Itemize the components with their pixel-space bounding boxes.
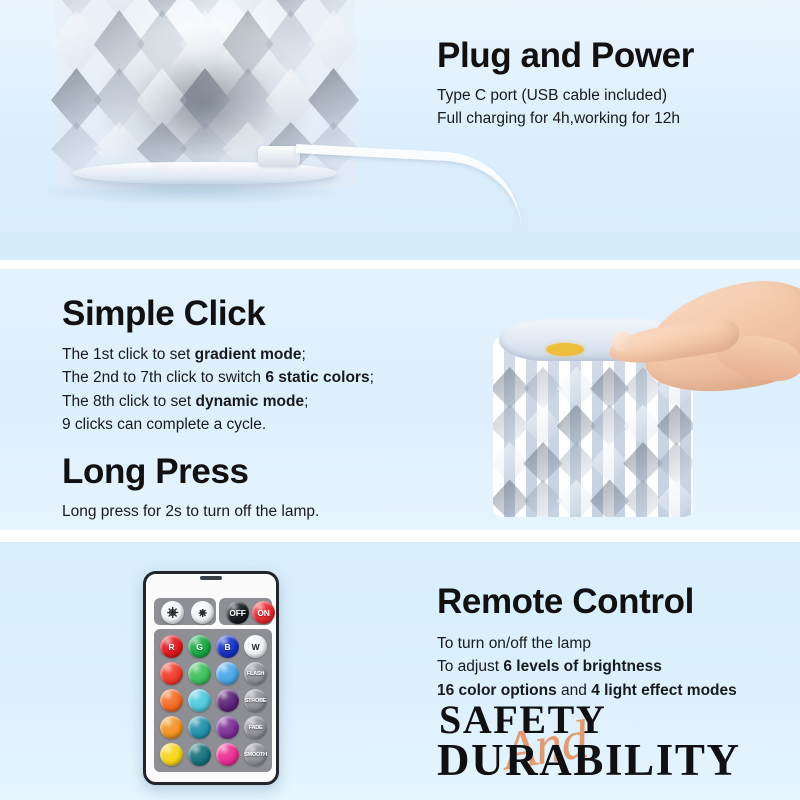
crystal-facet: [523, 367, 562, 409]
remote-button-g-label: G: [188, 635, 211, 658]
crystal-facet: [180, 10, 231, 76]
remote-button-power-off-icon[interactable]: OFF: [226, 601, 249, 624]
crystal-facet: [557, 480, 596, 518]
section-divider-2: [0, 530, 800, 542]
remote-button-color-r4c2[interactable]: [188, 716, 211, 739]
durability-word: DURABILITY: [437, 738, 741, 783]
crystal-facet: [222, 68, 273, 130]
crystal-facet: [657, 480, 693, 518]
remote-line-1: To turn on/off the lamp: [437, 632, 737, 656]
crystal-facet: [557, 367, 596, 409]
touch-indicator: [546, 343, 584, 356]
remote-button-power-on-icon-label: ON: [252, 601, 275, 624]
plug-line-2: Full charging for 4h,working for 12h: [437, 107, 694, 131]
crystal-facet: [523, 480, 562, 518]
remote-button-color-r3c1[interactable]: [160, 689, 183, 712]
crystal-facet: [590, 480, 629, 518]
remote-button-color-r3c3[interactable]: [216, 689, 239, 712]
long-press-line: Long press for 2s to turn off the lamp.: [62, 500, 374, 524]
infographic-page: Plug and Power Type C port (USB cable in…: [0, 0, 800, 800]
crystal-facet: [51, 10, 102, 76]
plug-text-block: Plug and Power Type C port (USB cable in…: [437, 38, 694, 131]
remote-button-color-r5c3[interactable]: [216, 743, 239, 766]
crystal-facet: [308, 68, 359, 130]
simple-click-line-3: The 8th click to set dynamic mode;: [62, 390, 374, 414]
crystal-facet: [493, 480, 529, 518]
section-plug-and-power: Plug and Power Type C port (USB cable in…: [0, 0, 800, 260]
remote-control-device[interactable]: OFFONRGBWFLASHSTROBEFADESMOOTH: [143, 571, 279, 785]
remote-button-color-r5c2[interactable]: [188, 743, 211, 766]
remote-text-block: Remote Control To turn on/off the lampTo…: [437, 584, 737, 702]
crystal-facet: [94, 10, 145, 76]
crystal-facet: [137, 68, 188, 130]
remote-button-smooth-label: SMOOTH: [244, 743, 267, 766]
crystal-facet: [265, 10, 316, 76]
crystal-facet: [623, 480, 662, 518]
brightness-down-icon: [191, 601, 214, 624]
crystal-facet: [308, 10, 359, 76]
remote-button-color-r3c2[interactable]: [188, 689, 211, 712]
crystal-facet: [623, 442, 662, 484]
remote-button-power-on-icon[interactable]: ON: [252, 601, 275, 624]
remote-button-w-label: W: [244, 635, 267, 658]
crystal-facet: [557, 442, 596, 484]
remote-button-color-r5c1[interactable]: [160, 743, 183, 766]
simple-click-line-1: The 1st click to set gradient mode;: [62, 343, 374, 367]
remote-button-b[interactable]: B: [216, 635, 239, 658]
remote-button-flash[interactable]: FLASH: [244, 662, 267, 685]
crystal-facet: [265, 68, 316, 130]
usb-cable: [292, 144, 526, 236]
crystal-facet: [493, 367, 529, 409]
remote-button-strobe[interactable]: STROBE: [244, 689, 267, 712]
usb-c-plug-icon: [258, 146, 300, 166]
section-divider-1: [0, 260, 800, 269]
crystal-facet: [590, 442, 629, 484]
crystal-facet: [493, 442, 529, 484]
hand-image: [610, 281, 800, 411]
remote-button-smooth[interactable]: SMOOTH: [244, 743, 267, 766]
remote-line-2: To adjust 6 levels of brightness: [437, 655, 737, 679]
click-lines: The 1st click to set gradient mode;The 2…: [62, 343, 374, 437]
crystal-facet: [51, 68, 102, 130]
safety-durability-badge: SAFETY And DURABILITY: [437, 700, 767, 792]
remote-button-fade[interactable]: FADE: [244, 716, 267, 739]
remote-button-color-r2c3[interactable]: [216, 662, 239, 685]
remote-button-strobe-label: STROBE: [244, 689, 267, 712]
crystal-facet: [523, 442, 562, 484]
remote-button-w[interactable]: W: [244, 635, 267, 658]
remote-button-power-off-icon-label: OFF: [226, 601, 249, 624]
long-press-heading: Long Press: [62, 454, 374, 491]
remote-button-brightness-up-icon[interactable]: [161, 601, 184, 624]
remote-button-b-label: B: [216, 635, 239, 658]
remote-button-color-r4c3[interactable]: [216, 716, 239, 739]
ir-emitter-icon: [200, 576, 222, 580]
remote-button-g[interactable]: G: [188, 635, 211, 658]
remote-lines: To turn on/off the lampTo adjust 6 level…: [437, 632, 737, 703]
crystal-facet: [657, 442, 693, 484]
simple-click-heading: Simple Click: [62, 296, 374, 333]
remote-button-flash-label: FLASH: [244, 662, 267, 685]
section-remote-control: OFFONRGBWFLASHSTROBEFADESMOOTH Remote Co…: [0, 542, 800, 800]
simple-click-line-4: 9 clicks can complete a cycle.: [62, 413, 374, 437]
crystal-facet: [493, 405, 529, 447]
crystal-facet: [180, 68, 231, 130]
remote-button-color-r2c2[interactable]: [188, 662, 211, 685]
click-text-block: Simple Click The 1st click to set gradie…: [62, 296, 374, 523]
remote-button-color-r2c1[interactable]: [160, 662, 183, 685]
crystal-facet: [222, 10, 273, 76]
remote-heading: Remote Control: [437, 584, 737, 621]
plug-heading: Plug and Power: [437, 38, 694, 75]
remote-button-r[interactable]: R: [160, 635, 183, 658]
simple-click-line-2: The 2nd to 7th click to switch 6 static …: [62, 366, 374, 390]
crystal-facet: [523, 405, 562, 447]
crystal-facet: [557, 405, 596, 447]
remote-button-fade-label: FADE: [244, 716, 267, 739]
plug-line-1: Type C port (USB cable included): [437, 84, 694, 108]
remote-button-brightness-down-icon[interactable]: [191, 601, 214, 624]
section-simple-click: Simple Click The 1st click to set gradie…: [0, 269, 800, 530]
crystal-facet: [137, 10, 188, 76]
remote-button-color-r4c1[interactable]: [160, 716, 183, 739]
crystal-facet: [94, 68, 145, 130]
brightness-up-icon: [161, 601, 184, 624]
remote-button-r-label: R: [160, 635, 183, 658]
